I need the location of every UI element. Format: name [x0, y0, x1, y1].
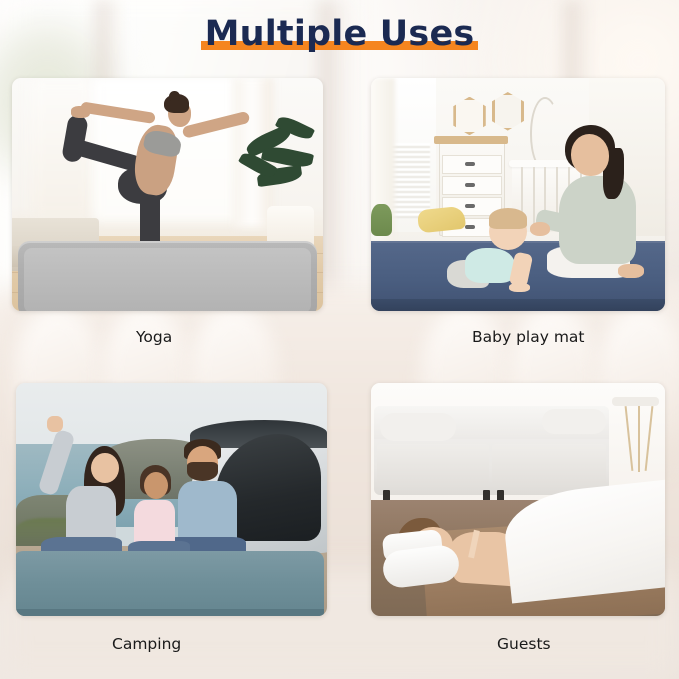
panel-camping[interactable]	[16, 383, 327, 616]
panel-baby-play-mat[interactable]	[371, 78, 665, 311]
woman-hand	[47, 416, 63, 432]
yoga-scene	[12, 78, 323, 311]
baby-hand	[509, 283, 530, 292]
sofa-bolster-left	[380, 413, 456, 441]
title-text: Multiple Uses	[205, 14, 475, 54]
camping-mat-edge	[16, 609, 324, 616]
woman-head	[91, 453, 119, 483]
camping-scene	[16, 383, 327, 616]
sofa-seat-cushion	[492, 444, 607, 486]
nursery-plant	[371, 204, 392, 237]
yoga-mat-inner	[24, 248, 310, 311]
yoga-plant	[236, 115, 323, 213]
caption-yoga: Yoga	[136, 328, 172, 346]
caption-guests: Guests	[497, 635, 551, 653]
mat-edge	[371, 299, 665, 311]
panel-guests[interactable]	[371, 383, 665, 616]
mother-head	[571, 134, 609, 176]
man-beard	[187, 462, 218, 481]
sofa-bolster-right	[542, 409, 607, 435]
dresser-top	[434, 136, 508, 144]
caption-baby-play-mat: Baby play mat	[472, 328, 585, 346]
side-table-top	[612, 397, 659, 406]
sofa-seat-cushion	[377, 444, 489, 486]
camping-mat	[16, 551, 324, 616]
baby-hair	[489, 208, 527, 229]
guests-scene	[371, 383, 665, 616]
panel-yoga[interactable]	[12, 78, 323, 311]
mother-foot	[618, 264, 644, 278]
page-title: Multiple Uses	[0, 14, 679, 54]
yoga-raised-foot	[71, 106, 90, 118]
caption-camping: Camping	[112, 635, 181, 653]
baby-body	[465, 248, 515, 283]
baby-scene	[371, 78, 665, 311]
